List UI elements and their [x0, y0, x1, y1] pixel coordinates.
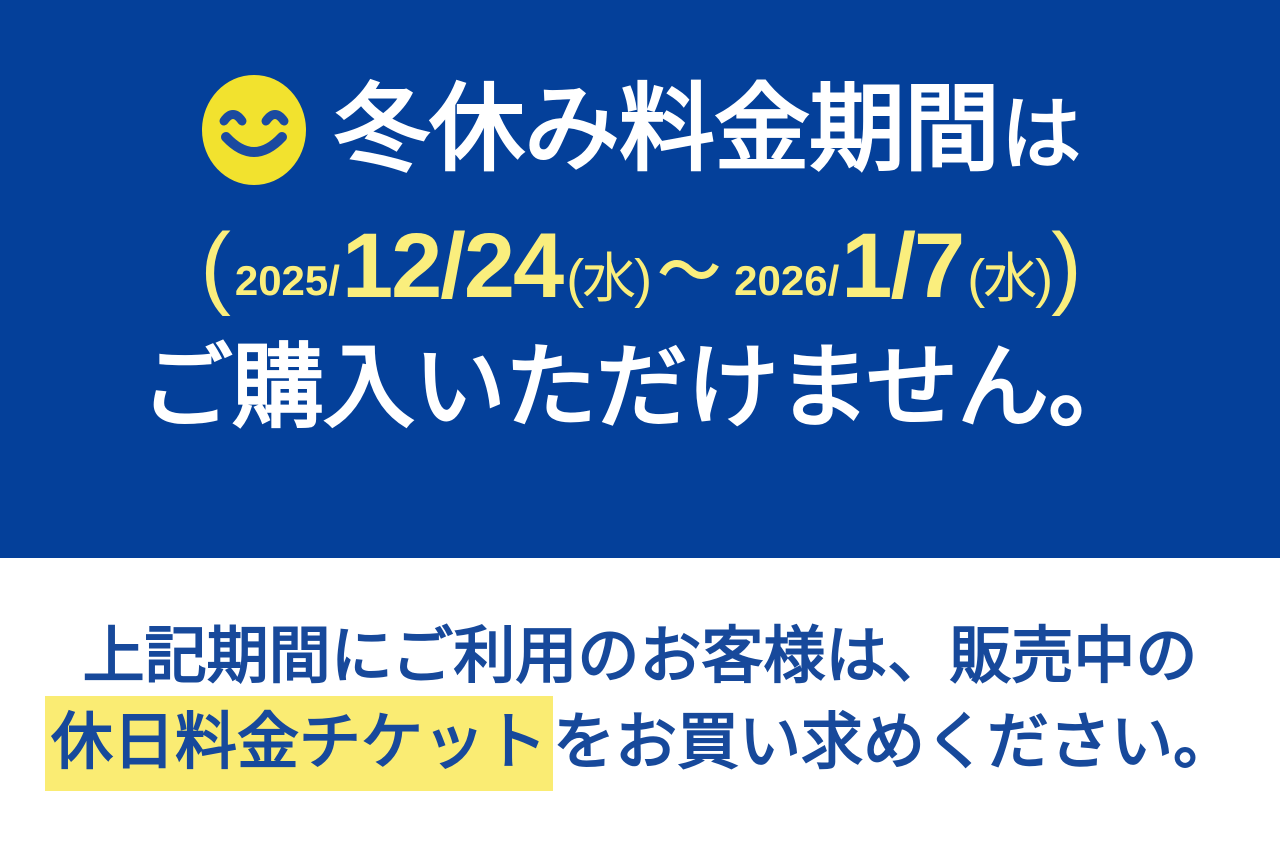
start-weekday: (水) [562, 252, 650, 306]
hero-section: 冬休み料金期間は (2025/12/24(水)〜2026/1/7(水)) ご購入… [0, 0, 1280, 558]
range-separator: 〜 [650, 242, 728, 304]
headline-row: 冬休み料金期間は [200, 66, 1080, 194]
end-weekday: (水) [963, 252, 1051, 306]
end-year: 2026/ [728, 260, 841, 302]
hero-statement: ご購入いただけません。 [141, 342, 1139, 434]
footer-line-2: 休日料金チケットをお買い求めください。 [45, 712, 1235, 774]
headline-main: 冬休み料金期間 [334, 82, 999, 178]
hero-content: 冬休み料金期間は (2025/12/24(水)〜2026/1/7(水)) ご購入… [0, 0, 1280, 558]
start-year: 2025/ [229, 260, 342, 302]
footer-line-1: 上記期間にご利用のお客様は、販売中の [83, 626, 1198, 688]
close-paren: ) [1051, 220, 1080, 312]
open-paren: ( [200, 220, 229, 312]
smiley-face-icon [200, 73, 308, 187]
notice-banner: 冬休み料金期間は (2025/12/24(水)〜2026/1/7(水)) ご購入… [0, 0, 1280, 854]
page-title: 冬休み料金期間は [334, 82, 1080, 178]
end-date: 1/7 [841, 220, 963, 312]
footer-line-2-rest: をお買い求めください。 [553, 708, 1235, 777]
ticket-highlight: 休日料金チケット [45, 696, 553, 791]
date-range: (2025/12/24(水)〜2026/1/7(水)) [200, 220, 1080, 312]
headline-tail: は [999, 95, 1080, 175]
start-date: 12/24 [342, 220, 562, 312]
footer-section: 上記期間にご利用のお客様は、販売中の 休日料金チケットをお買い求めください。 [0, 558, 1280, 854]
